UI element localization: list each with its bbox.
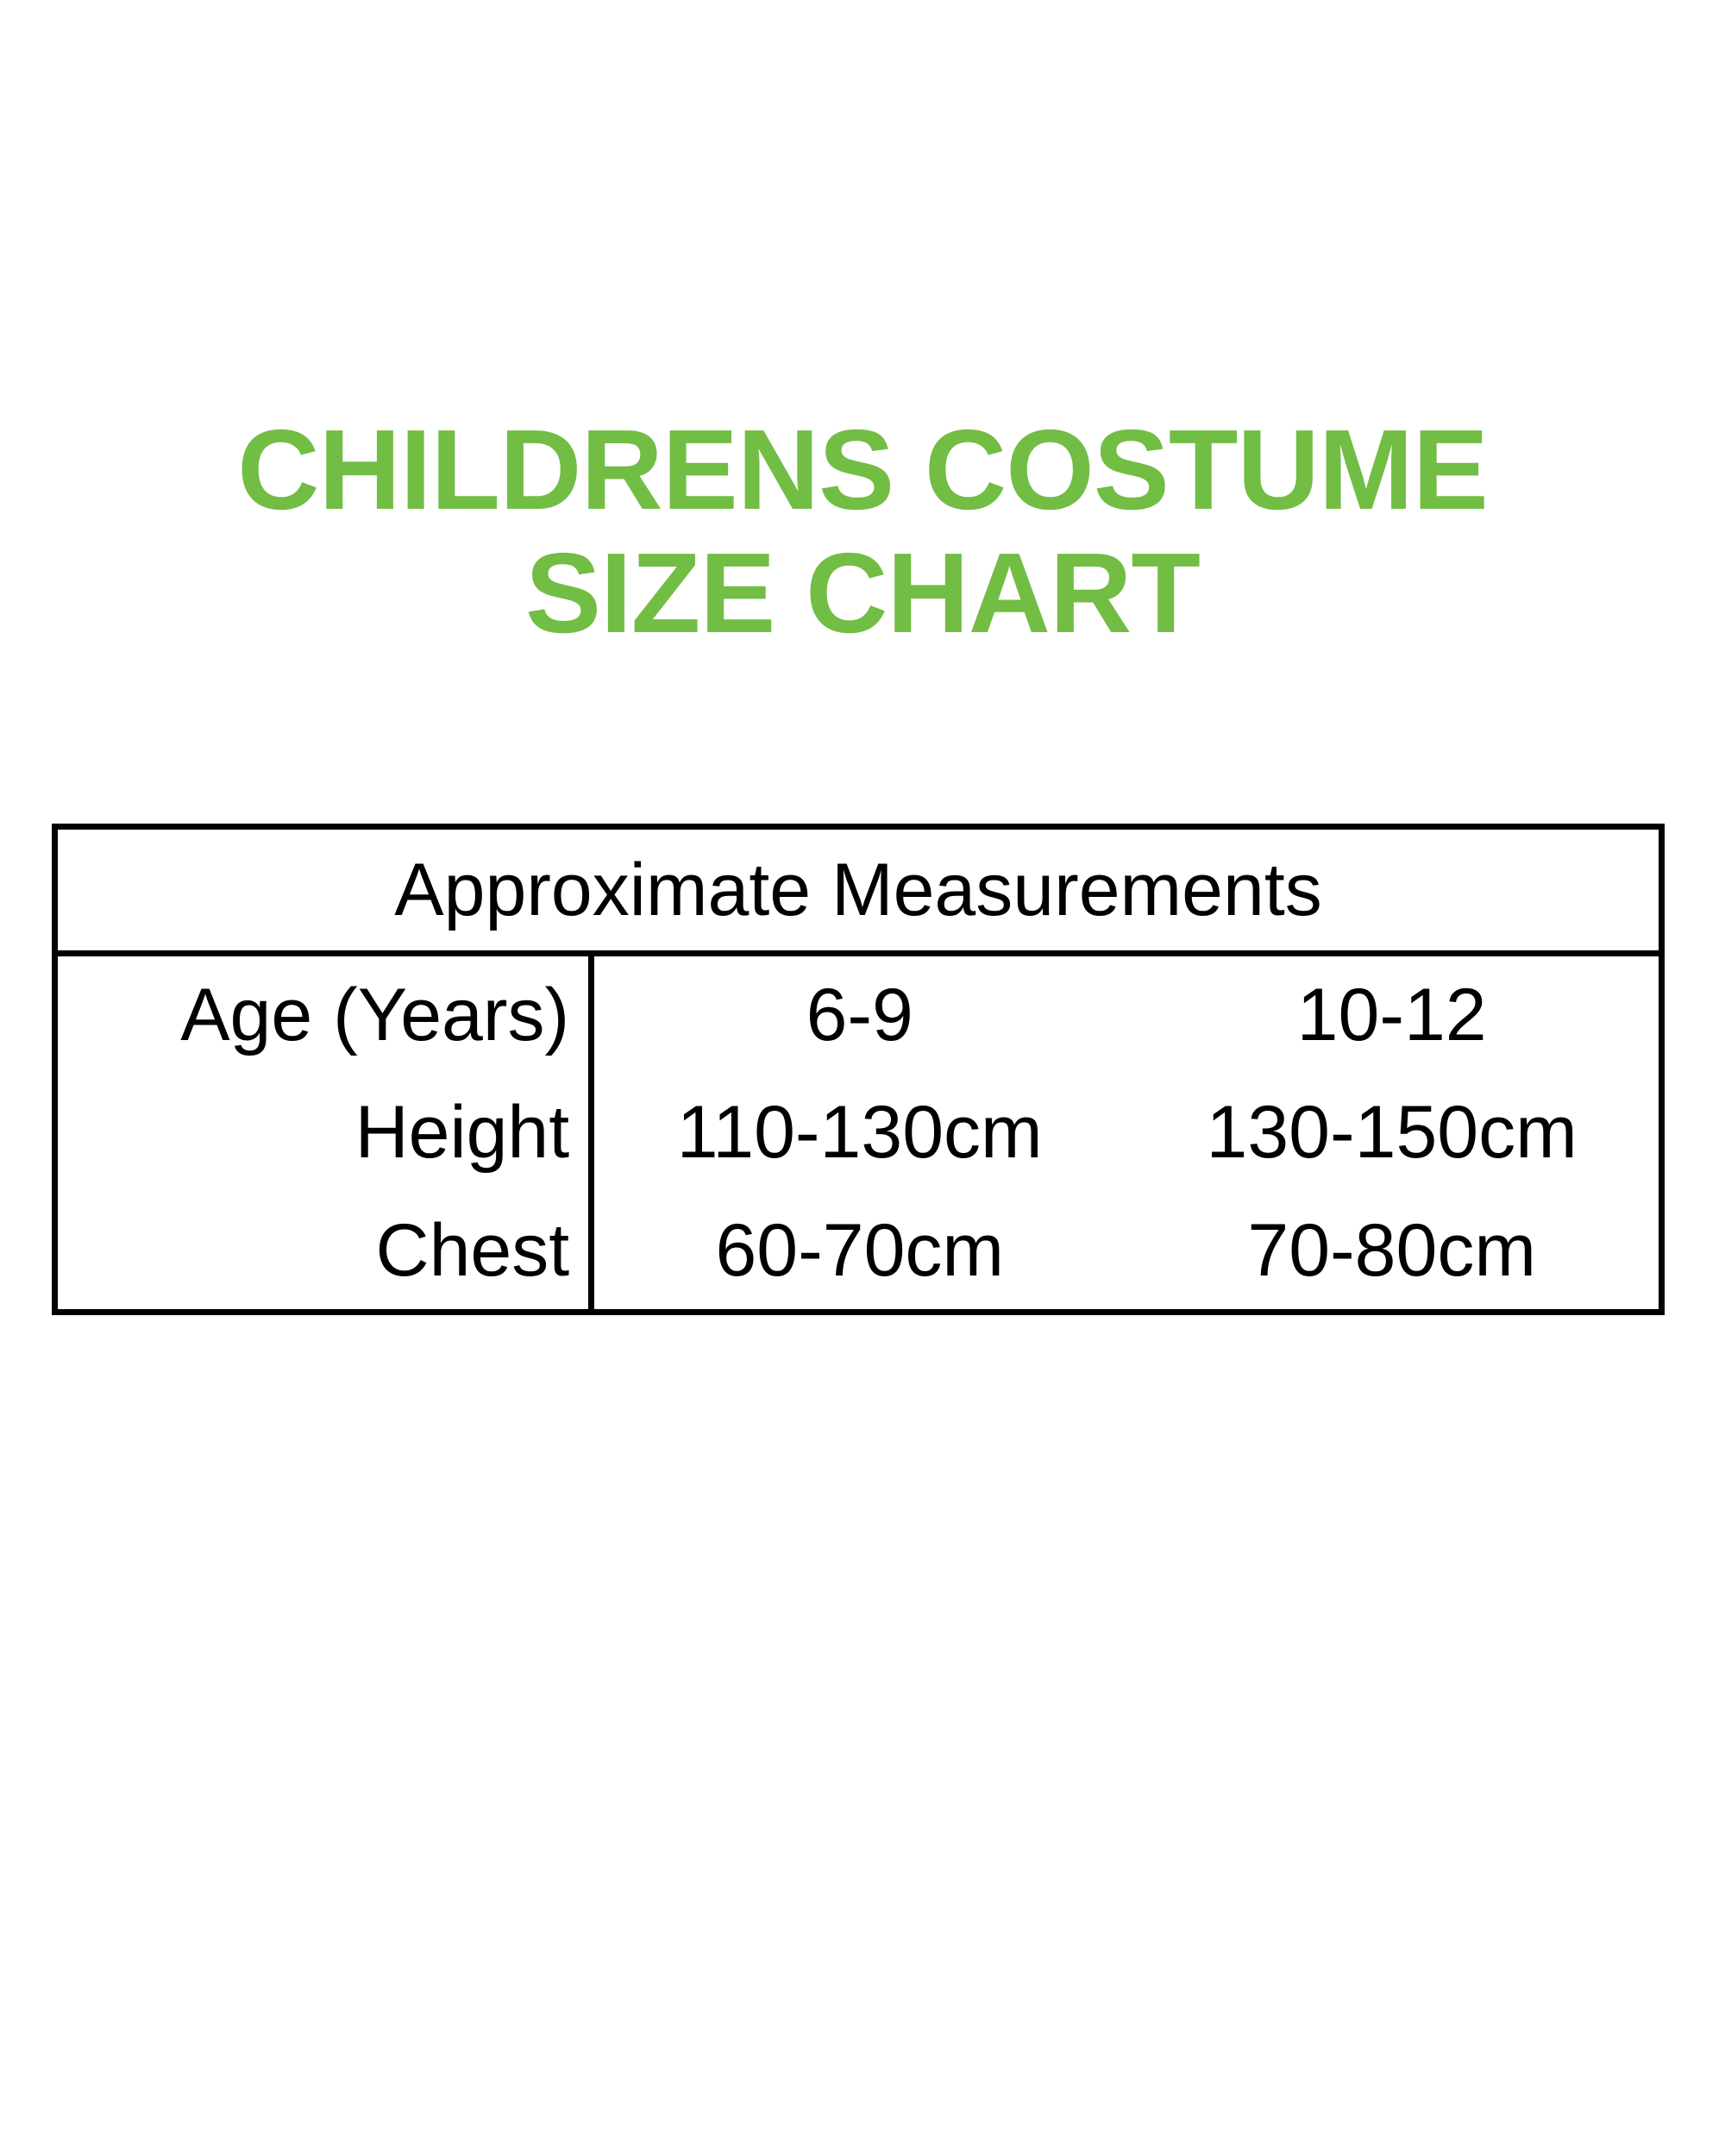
title-line-primary: CHILDRENS COSTUME bbox=[0, 412, 1725, 529]
cell-height-size-small: 110-130cm bbox=[592, 1074, 1126, 1191]
cell-age-size-large: 10-12 bbox=[1125, 953, 1659, 1074]
approximate-measurements-header: Approximate Measurements bbox=[58, 830, 1659, 953]
row-label-age: Age (Years) bbox=[58, 953, 592, 1074]
table-row: Age (Years) 6-9 10-12 bbox=[58, 953, 1659, 1074]
title-line-secondary: SIZE CHART bbox=[0, 536, 1725, 652]
table-header-row: Approximate Measurements bbox=[58, 830, 1659, 953]
row-label-chest: Chest bbox=[58, 1192, 592, 1309]
row-label-height: Height bbox=[58, 1074, 592, 1191]
size-chart-table-container: Approximate Measurements Age (Years) 6-9… bbox=[52, 824, 1665, 1315]
size-chart-table: Approximate Measurements Age (Years) 6-9… bbox=[58, 830, 1659, 1309]
cell-age-size-small: 6-9 bbox=[592, 953, 1126, 1074]
page-title: CHILDRENS COSTUME SIZE CHART bbox=[0, 412, 1725, 651]
cell-chest-size-small: 60-70cm bbox=[592, 1192, 1126, 1309]
table-row: Chest 60-70cm 70-80cm bbox=[58, 1192, 1659, 1309]
cell-chest-size-large: 70-80cm bbox=[1125, 1192, 1659, 1309]
cell-height-size-large: 130-150cm bbox=[1125, 1074, 1659, 1191]
table-row: Height 110-130cm 130-150cm bbox=[58, 1074, 1659, 1191]
